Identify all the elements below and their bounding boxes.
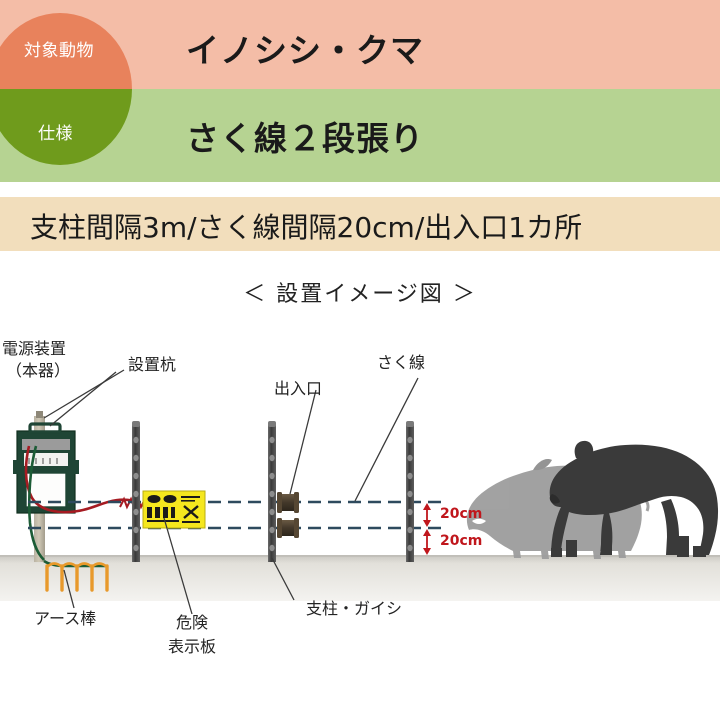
label-gateway: 出入口 — [274, 380, 322, 398]
label-warning-sign-line2: 表示板 — [152, 638, 232, 656]
label-power-unit-line1: 電源装置 — [2, 340, 66, 358]
measure-spacing-bottom: 20cm — [440, 533, 482, 549]
power-supply-unit — [13, 411, 79, 562]
insulator-lower — [277, 518, 299, 538]
label-power-unit-line2: （本器） — [6, 362, 70, 380]
label-fence-wire: さく線 — [377, 354, 425, 372]
fence-post-1 — [132, 421, 140, 562]
installation-diagram: 電源装置 （本器） 設置杭 出入口 さく線 アース棒 危険 表示板 支柱・ガイシ… — [0, 318, 720, 720]
infographic-page: 対象動物 仕様 イノシシ・クマ さく線２段張り 支柱間隔3m/さく線間隔20cm… — [0, 0, 720, 720]
label-warning-sign-line1: 危険 — [160, 614, 224, 632]
spec-value-text: さく線２段張り — [186, 112, 424, 160]
diagram-caption: ＜ 設置イメージ図 ＞ — [0, 276, 720, 308]
fence-post-3 — [406, 421, 414, 562]
spec-badge-label: 仕様 — [38, 119, 73, 144]
fence-wires — [28, 502, 447, 528]
label-post-insulator: 支柱・ガイシ — [306, 600, 402, 618]
animal-badge-label: 対象動物 — [24, 36, 94, 61]
measure-spacing-top: 20cm — [440, 506, 482, 522]
detail-spec-text: 支柱間隔3m/さく線間隔20cm/出入口1カ所 — [30, 206, 582, 246]
label-stake: 設置杭 — [128, 356, 176, 374]
label-earth-rod: アース棒 — [34, 610, 96, 628]
fence-post-2 — [268, 421, 299, 562]
danger-warning-sign — [143, 491, 205, 528]
insulator-upper — [277, 492, 299, 513]
animal-value-text: イノシシ・クマ — [186, 24, 424, 72]
leader-gateway — [290, 390, 316, 494]
